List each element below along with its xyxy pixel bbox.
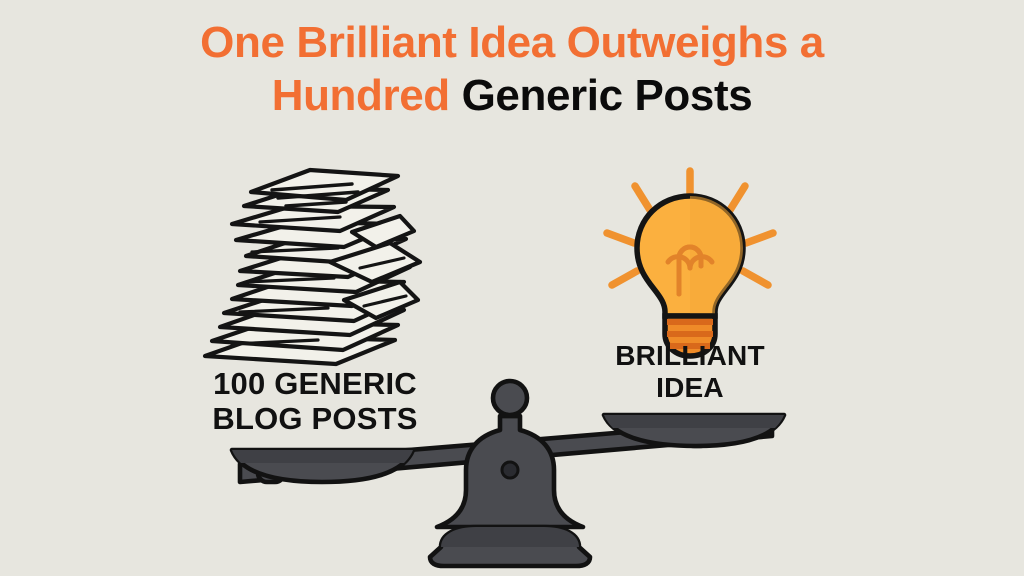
scale-knob xyxy=(493,381,527,415)
scale-left-pan xyxy=(232,450,413,482)
scale-left-post xyxy=(258,452,284,482)
headline-line-2: Hundred Generic Posts xyxy=(0,69,1024,122)
caption-paper-stack-line1: 100 GENERIC xyxy=(170,366,460,401)
scale-foot-shade xyxy=(441,527,579,547)
caption-light-bulb: BRILLIANT IDEA xyxy=(575,340,805,404)
scale-right-pan-shade xyxy=(604,415,784,428)
light-ray-w xyxy=(607,233,634,243)
light-bulb-icon xyxy=(607,171,773,356)
headline-line-1: One Brilliant Idea Outweighs a xyxy=(0,16,1024,69)
caption-paper-stack-line2: BLOG POSTS xyxy=(170,401,460,436)
light-ray-group xyxy=(607,171,773,285)
scale-right-pan xyxy=(604,415,784,446)
light-ray-sw xyxy=(612,271,637,285)
scale-right-post xyxy=(685,418,709,446)
scale-foot xyxy=(430,527,590,566)
bulb-glass-shade xyxy=(690,196,743,316)
headline-accent-2: Hundred xyxy=(272,71,450,120)
paper-stack-icon xyxy=(205,170,420,364)
light-ray-ne xyxy=(730,186,745,210)
headline-accent-1: One Brilliant Idea Outweighs a xyxy=(200,18,824,67)
light-ray-e xyxy=(746,233,773,243)
bulb-glass xyxy=(637,196,743,316)
scale-neck xyxy=(503,405,517,416)
light-ray-se xyxy=(743,271,768,285)
bulb-filament xyxy=(668,247,712,294)
caption-light-bulb-line2: IDEA xyxy=(575,372,805,404)
light-ray-nw xyxy=(635,186,650,210)
infographic-canvas: One Brilliant Idea Outweighs a Hundred G… xyxy=(0,0,1024,576)
scale-pivot-bolt xyxy=(502,462,518,478)
scale-left-pan-shade xyxy=(232,450,413,463)
headline-plain-2: Generic Posts xyxy=(462,71,753,120)
caption-paper-stack: 100 GENERIC BLOG POSTS xyxy=(170,366,460,437)
page-title: One Brilliant Idea Outweighs a Hundred G… xyxy=(0,16,1024,122)
caption-light-bulb-line1: BRILLIANT xyxy=(575,340,805,372)
